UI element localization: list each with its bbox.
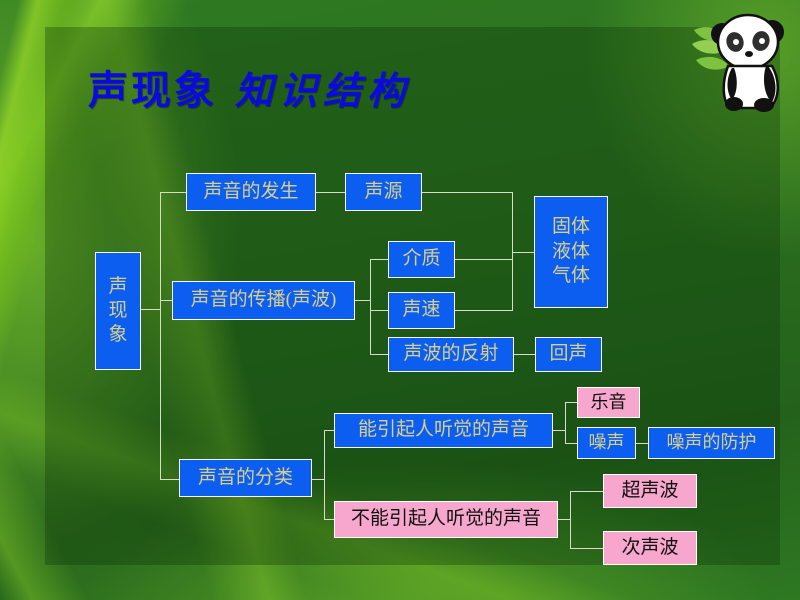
node-sound-source[interactable]: 声源 — [345, 173, 422, 211]
edge-generation-source — [316, 192, 345, 193]
edge-inaudible-fan — [570, 491, 571, 548]
node-root[interactable]: 声 现 象 — [95, 252, 141, 370]
edge-fan-medium — [370, 259, 388, 260]
node-sound-reflection[interactable]: 声波的反射 — [388, 337, 514, 372]
edge-trunk-main — [160, 192, 161, 480]
page-title-main: 声现象 — [88, 68, 217, 113]
node-sound-speed[interactable]: 声速 — [388, 292, 455, 329]
node-echo[interactable]: 回声 — [535, 337, 602, 372]
edge-propagation-fan — [370, 259, 371, 354]
edge-fan-audible — [324, 430, 334, 431]
page-title-sub: 知识结构 — [235, 71, 411, 113]
edge-fan-infrasound — [570, 548, 603, 549]
node-states-of-matter[interactable]: 固体 液体 气体 — [534, 196, 608, 308]
page-title: 声现象知识结构 — [88, 58, 411, 116]
node-audible-sound[interactable]: 能引起人听觉的声音 — [334, 413, 553, 448]
edge-propagation-stub — [355, 300, 370, 301]
edge-reflection-echo — [514, 354, 535, 355]
edge-inaudible-stub — [558, 519, 570, 520]
edge-audible-fan — [565, 402, 566, 443]
node-musical-sound[interactable]: 乐音 — [577, 387, 640, 418]
edge-join-states — [512, 252, 534, 253]
edge-audible-stub — [553, 430, 565, 431]
node-ultrasound[interactable]: 超声波 — [603, 474, 697, 508]
edge-fan-music — [565, 402, 577, 403]
node-noise[interactable]: 噪声 — [577, 427, 636, 459]
edge-classify-stub — [312, 479, 324, 480]
panda-bamboo-icon — [688, 4, 792, 112]
slide-canvas: 声现象知识结构 — [0, 0, 800, 600]
node-sound-propagation[interactable]: 声音的传播(声波) — [172, 281, 355, 320]
edge-fan-speed — [370, 310, 388, 311]
edge-medium-join — [455, 259, 512, 260]
node-sound-generation[interactable]: 声音的发生 — [186, 173, 316, 211]
edge-trunk-classify — [160, 479, 179, 480]
edge-noise-control — [636, 443, 648, 444]
node-noise-protection[interactable]: 噪声的防护 — [648, 427, 775, 459]
edge-source-join — [422, 192, 512, 193]
edge-speed-join — [455, 310, 512, 311]
edge-fan-ultrasound — [570, 491, 603, 492]
edge-fan-inaudible — [324, 519, 334, 520]
edge-classify-fan — [324, 430, 325, 519]
node-infrasound[interactable]: 次声波 — [603, 531, 697, 565]
edge-fan-noise — [565, 443, 577, 444]
node-medium[interactable]: 介质 — [388, 241, 455, 278]
node-inaudible-sound[interactable]: 不能引起人听觉的声音 — [334, 501, 558, 538]
edge-fan-reflection — [370, 354, 388, 355]
node-sound-classification[interactable]: 声音的分类 — [179, 459, 312, 497]
edge-root-trunk — [141, 309, 161, 310]
edge-trunk-generation — [160, 192, 186, 193]
